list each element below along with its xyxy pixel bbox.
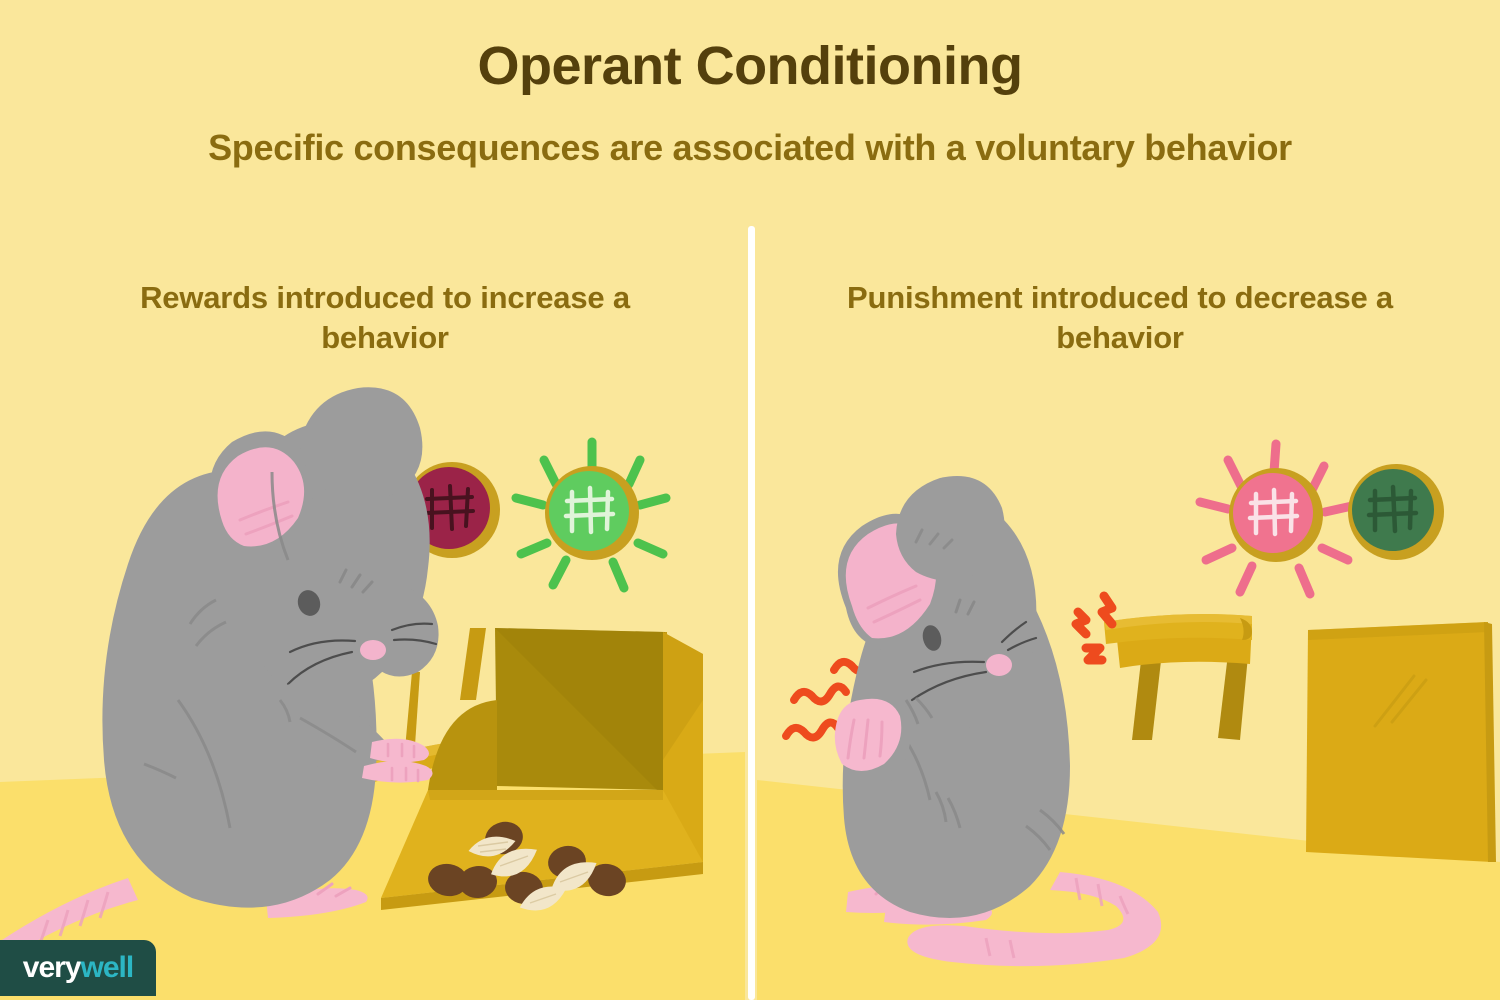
indicator-light-pink-on bbox=[1200, 444, 1352, 594]
right-panel-heading: Punishment introduced to decrease a beha… bbox=[820, 278, 1420, 357]
shock-bolts bbox=[1076, 596, 1112, 660]
punishment-mouse bbox=[835, 476, 1161, 966]
shock-panel bbox=[1306, 622, 1496, 862]
shock-lever bbox=[1104, 614, 1252, 740]
page-subtitle: Specific consequences are associated wit… bbox=[0, 128, 1500, 168]
reward-mouse bbox=[0, 387, 439, 970]
food-pellets bbox=[426, 818, 629, 907]
infographic-canvas: Operant Conditioning Specific consequenc… bbox=[0, 0, 1500, 1000]
logo-word-very: very bbox=[23, 951, 81, 985]
indicator-light-green-on bbox=[516, 442, 666, 588]
panel-divider bbox=[748, 226, 755, 1000]
logo-word-well: well bbox=[81, 951, 134, 985]
indicator-light-red-off bbox=[404, 462, 500, 558]
left-panel-heading: Rewards introduced to increase a behavio… bbox=[90, 278, 680, 357]
reward-lever bbox=[343, 628, 496, 790]
indicator-light-green-off bbox=[1348, 464, 1444, 560]
food-box bbox=[381, 628, 703, 918]
food-seeds bbox=[467, 832, 603, 917]
page-title: Operant Conditioning bbox=[0, 38, 1500, 95]
pain-squiggles bbox=[786, 656, 886, 737]
verywell-logo[interactable]: verywell bbox=[0, 940, 156, 996]
